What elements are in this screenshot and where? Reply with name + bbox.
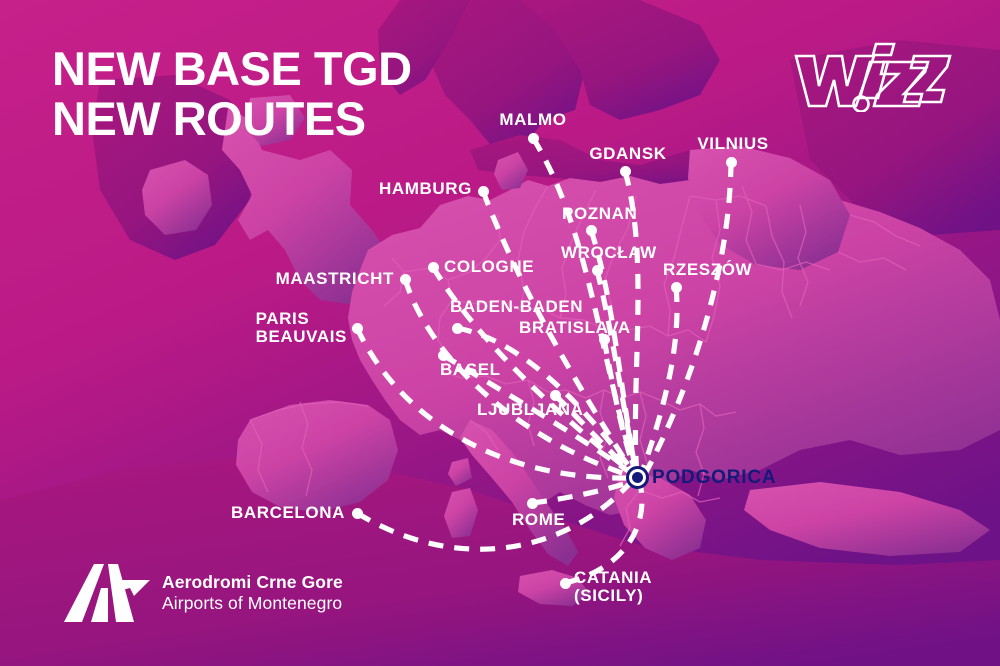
city-label-maastricht: MAASTRICHT [276, 270, 394, 287]
city-dot-vilnius[interactable] [726, 157, 737, 168]
city-dot-maastricht[interactable] [400, 274, 411, 285]
airports-of-montenegro-logo: Aerodromi Crne Gore Airports of Monteneg… [64, 562, 343, 624]
acg-name-local: Aerodromi Crne Gore [162, 572, 343, 593]
city-label-line: (SICILY) [574, 587, 652, 605]
city-label-podgorica: PODGORICA [652, 468, 776, 487]
city-label-hamburg: HAMBURG [379, 180, 472, 197]
acg-name-english: Airports of Montenegro [162, 593, 343, 614]
city-label-line: BEAUVAIS [256, 328, 347, 346]
city-dot-gdansk[interactable] [620, 166, 631, 177]
title-line-1: NEW BASE TGD [52, 44, 412, 94]
title-line-2: NEW ROUTES [52, 94, 412, 144]
page-title: NEW BASE TGD NEW ROUTES [52, 44, 412, 144]
city-label-cologne: COLOGNE [444, 258, 534, 275]
city-label-wroclaw: WROCŁAW [561, 244, 657, 261]
city-dot-rome[interactable] [527, 498, 538, 509]
city-label-poznan: POZNAN [562, 205, 637, 222]
city-label-line: CATANIA [574, 569, 652, 587]
city-label-catania: CATANIA(SICILY) [574, 569, 652, 606]
city-label-baden-baden: BADEN-BADEN [450, 298, 583, 315]
city-label-malmo: MALMO [499, 111, 566, 128]
city-dot-cologne[interactable] [428, 262, 439, 273]
hub-marker-podgorica[interactable] [626, 466, 649, 489]
city-label-barcelona: BARCELONA [231, 504, 345, 521]
city-dot-basel[interactable] [438, 350, 449, 361]
city-dot-rzeszow[interactable] [671, 282, 682, 293]
city-label-bratislava: BRATISLAVA [519, 319, 631, 336]
city-dot-malmo[interactable] [528, 133, 539, 144]
city-dot-hamburg[interactable] [478, 186, 489, 197]
city-dot-poznan[interactable] [586, 225, 597, 236]
city-label-paris: PARISBEAUVAIS [256, 310, 347, 347]
city-dot-catania[interactable] [560, 578, 571, 589]
city-label-rome: ROME [512, 511, 565, 528]
city-dot-wroclaw[interactable] [592, 265, 603, 276]
route-map-poster: NEW BASE TGD NEW ROUTES [0, 0, 1000, 666]
city-dot-baden-baden[interactable] [452, 323, 463, 334]
city-label-line: PARIS [256, 310, 347, 328]
city-label-basel: BASEL [440, 361, 501, 378]
city-dot-ljubljana[interactable] [550, 390, 561, 401]
wizz-air-logo [792, 38, 952, 112]
city-label-rzeszow: RZESZÓW [663, 261, 752, 278]
city-dot-barcelona[interactable] [352, 508, 363, 519]
acg-runway-mark [64, 562, 150, 624]
city-label-ljubljana: LJUBLJANA [477, 401, 583, 418]
city-dot-bratislava[interactable] [599, 334, 610, 345]
city-label-gdansk: GDANSK [589, 145, 666, 162]
city-dot-paris[interactable] [352, 323, 363, 334]
city-label-vilnius: VILNIUS [697, 135, 768, 152]
